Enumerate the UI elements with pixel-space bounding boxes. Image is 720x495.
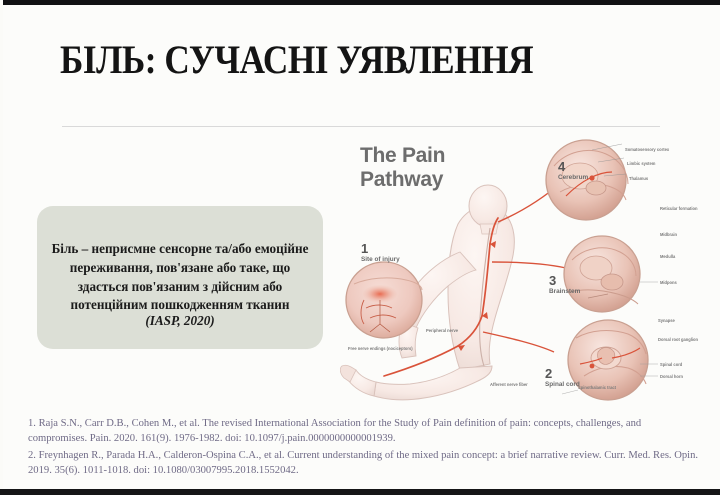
anatomy-label-spinothalamic-tract: Spinothalamic tract (578, 385, 616, 390)
anatomy-label-limbic-system: Limbic system (627, 161, 655, 166)
reference-item-1: 1. Raja S.N., Carr D.B., Cohen M., et al… (28, 416, 700, 446)
anatomy-label-peripheral-nerve: Peripheral nerve (426, 328, 458, 333)
branch-to-spinal-cord (483, 332, 554, 352)
frame-left-edge (0, 0, 3, 495)
anatomy-label-dorsal-root-ganglion: Dorsal root ganglion (658, 337, 698, 342)
step-label-2: 2 Spinal cord (545, 367, 580, 388)
slide-title: БІЛЬ: СУЧАСНІ УЯВЛЕННЯ (60, 36, 533, 83)
anatomy-label-synapse: Synapse (658, 318, 675, 323)
anatomy-label-midbrain: Midbrain (660, 232, 677, 237)
anatomy-label-reticular-formation: Reticular formation (660, 206, 698, 211)
references-block: 1. Raja S.N., Carr D.B., Cohen M., et al… (28, 416, 700, 480)
anatomy-label-dorsal-horn: Dorsal horn (660, 374, 683, 379)
anatomy-label-somatosensory-cortex: Somatosensory cortex (625, 147, 669, 152)
frame-top-edge (0, 0, 720, 5)
magnifier-site-of-injury (346, 262, 422, 338)
definition-source: (IASP, 2020) (37, 313, 323, 329)
definition-text: Біль – неприсмне сенсорне та/або емоційн… (51, 240, 309, 315)
anatomy-label-spinal-cord-detail: Spinal cord (660, 362, 682, 367)
anatomy-label-free-nerve-endings: Free nerve endings (nociceptors) (348, 346, 413, 351)
anatomy-label-afferent-nerve-fiber: Afferent nerve fiber (490, 382, 528, 387)
step-label-3: 3 Brainstem (549, 274, 580, 295)
title-divider (62, 126, 660, 127)
step-label-1: 1 Site of injury (361, 242, 400, 263)
frame-bottom-edge (0, 489, 720, 495)
step-label-4: 4 Cerebrum (558, 160, 588, 181)
pain-pathway-figure: The Pain Pathway (340, 132, 716, 404)
anatomy-label-midpons: Midpons (660, 280, 677, 285)
anatomy-label-medulla: Medulla (660, 254, 675, 259)
reference-item-2: 2. Freynhagen R., Parada H.A., Calderon-… (28, 448, 700, 478)
anatomy-label-thalamus: Thalamus (629, 176, 648, 181)
slide-canvas: БІЛЬ: СУЧАСНІ УЯВЛЕННЯ Біль – неприсмне … (0, 0, 720, 495)
